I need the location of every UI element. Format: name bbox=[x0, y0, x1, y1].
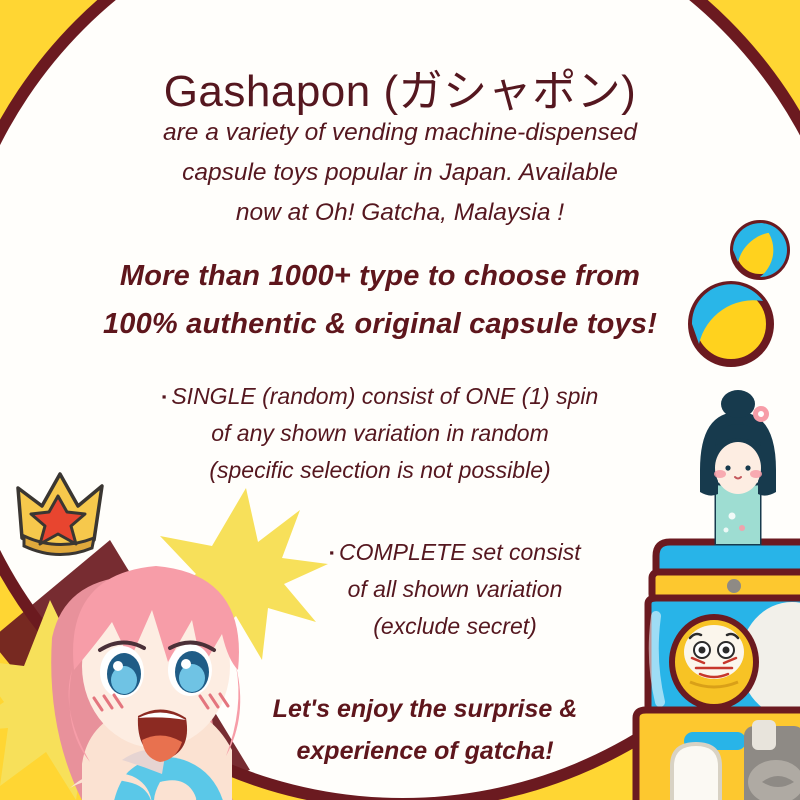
bullet-complete-line-2: of all shown variation bbox=[270, 571, 640, 608]
kokeshi-doll bbox=[676, 388, 800, 548]
closing-block: Let's enjoy the surprise & experience of… bbox=[230, 688, 620, 772]
lede-paragraph: are a variety of vending machine-dispens… bbox=[110, 113, 690, 233]
bullet-single-line-3: (specific selection is not possible) bbox=[120, 452, 640, 489]
daruma-capsule bbox=[672, 617, 756, 707]
lede-line-3: now at Oh! Gatcha, Malaysia ! bbox=[110, 193, 690, 233]
gashapon-poster: Gashapon (ガシャポン) are a variety of vendin… bbox=[0, 0, 800, 800]
lede-line-1: are a variety of vending machine-dispens… bbox=[110, 113, 690, 153]
crown-icon bbox=[8, 460, 118, 570]
bullet-complete-text-1: COMPLETE set consist bbox=[339, 539, 581, 565]
capsule-ball-small bbox=[728, 218, 792, 282]
lede-line-2: capsule toys popular in Japan. Available bbox=[110, 153, 690, 193]
page-title: Gashapon (ガシャポン) bbox=[0, 55, 800, 119]
closing-line-2: experience of gatcha! bbox=[230, 730, 620, 772]
bullet-complete-line-1: ▪COMPLETE set consist bbox=[270, 534, 640, 571]
bullet-marker-complete: ▪ bbox=[329, 545, 334, 560]
gashapon-machine bbox=[626, 520, 800, 800]
bullet-single-text-1: SINGLE (random) consist of ONE (1) spin bbox=[171, 383, 598, 409]
bullet-single-line-2: of any shown variation in random bbox=[120, 415, 640, 452]
bullet-complete-line-3: (exclude secret) bbox=[270, 608, 640, 645]
headline-line-2: 100% authentic & original capsule toys! bbox=[40, 300, 720, 348]
bullet-marker-single: ▪ bbox=[162, 389, 167, 404]
bullet-single-block: ▪SINGLE (random) consist of ONE (1) spin… bbox=[120, 378, 640, 489]
headline-line-1: More than 1000+ type to choose from bbox=[40, 252, 720, 300]
closing-line-1: Let's enjoy the surprise & bbox=[230, 688, 620, 730]
bullet-complete-block: ▪COMPLETE set consist of all shown varia… bbox=[270, 534, 640, 645]
headline-block: More than 1000+ type to choose from 100%… bbox=[40, 252, 720, 348]
bullet-single-line-1: ▪SINGLE (random) consist of ONE (1) spin bbox=[120, 378, 640, 415]
